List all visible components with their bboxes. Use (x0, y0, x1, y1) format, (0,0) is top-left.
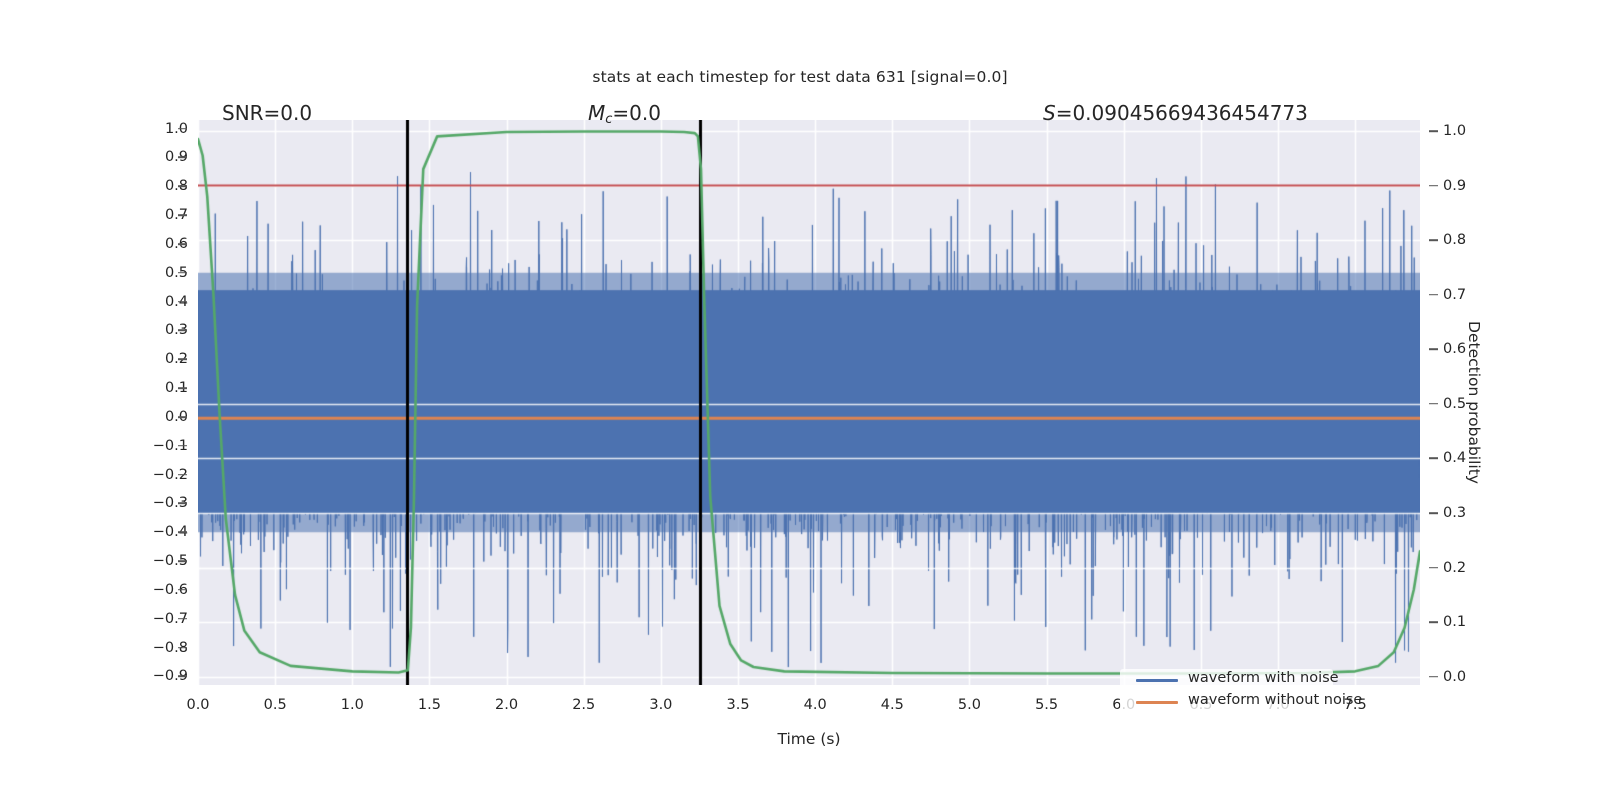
y-axis-right-tick-mark (1429, 403, 1438, 405)
annotation-statistic-symbol: S (1043, 101, 1056, 125)
y-axis-left-tick-mark (178, 416, 187, 418)
y-axis-left-tick-mark (178, 387, 187, 389)
legend-label-clean: waveform without noise (1188, 692, 1362, 708)
x-axis-tick-label: 2.5 (572, 697, 595, 713)
y-axis-left-tick-mark (178, 503, 187, 505)
y-axis-right-tick-label: 1.0 (1443, 123, 1466, 139)
x-axis-tick-label: 5.0 (958, 697, 981, 713)
y-axis-left-tick-mark (178, 445, 187, 447)
y-axis-left-tick-mark (178, 243, 187, 245)
y-axis-right-tick-mark (1429, 130, 1438, 132)
x-axis-tick-label: 3.0 (649, 697, 672, 713)
y-axis-left-tick-mark (178, 272, 187, 274)
y-axis-right-tick-label: 0.5 (1443, 396, 1466, 412)
legend-item-waveform-without-noise: waveform without noise (1120, 691, 1333, 713)
y-axis-right-tick-label: 0.8 (1443, 232, 1466, 248)
y-axis-left-tick-mark (178, 531, 187, 533)
y-axis-left-tick-mark (178, 618, 187, 620)
y-axis-right-tick-mark (1429, 512, 1438, 514)
y-axis-right-tick-mark (1429, 294, 1438, 296)
y-axis-left-tick-mark (178, 186, 187, 188)
x-axis-tick-label: 0.5 (264, 697, 287, 713)
x-axis-tick-label: 4.0 (804, 697, 827, 713)
y-axis-right-tick-label: 0.2 (1443, 560, 1466, 576)
y-axis-right-tick-mark (1429, 348, 1438, 350)
y-axis-right-tick-label: 0.6 (1443, 341, 1466, 357)
annotation-statistic-value: =0.09045669436454773 (1056, 101, 1308, 125)
y-axis-left-tick-mark (178, 128, 187, 130)
y-axis-left-tick-mark (178, 676, 187, 678)
x-axis-tick-label: 2.0 (495, 697, 518, 713)
legend-item-waveform-with-noise: waveform with noise (1120, 669, 1333, 691)
x-axis-label: Time (s) (198, 730, 1420, 748)
y-axis-right-tick-label: 0.4 (1443, 450, 1466, 466)
y-axis-right-tick-label: 0.9 (1443, 178, 1466, 194)
legend-swatch-clean (1136, 701, 1178, 704)
annotation-snr: SNR=0.0 (222, 101, 312, 125)
x-axis-tick-label: 1.5 (418, 697, 441, 713)
plot-axes (198, 120, 1420, 685)
y-axis-left-tick-mark (178, 474, 187, 476)
y-axis-left-tick-mark (178, 358, 187, 360)
x-axis-tick-label: 5.5 (1035, 697, 1058, 713)
legend-swatch-noise (1136, 679, 1178, 682)
y-axis-right-tick-label: 0.0 (1443, 669, 1466, 685)
legend-label-noise: waveform with noise (1188, 670, 1339, 686)
y-axis-right-tick-label: 0.3 (1443, 505, 1466, 521)
annotation-statistic: S=0.09045669436454773 (1043, 101, 1308, 125)
y-axis-right-tick-mark (1429, 676, 1438, 678)
y-axis-left-tick-mark (178, 214, 187, 216)
y-axis-left-tick-mark (178, 301, 187, 303)
y-axis-right-tick-mark (1429, 621, 1438, 623)
y-axis-right-tick-mark (1429, 567, 1438, 569)
y-axis-right-tick-label: 0.1 (1443, 614, 1466, 630)
y-axis-left-tick-mark (178, 560, 187, 562)
annotation-chirp-mass-symbol: M (588, 101, 605, 125)
y-axis-left-tick-mark (178, 330, 187, 332)
annotation-chirp-mass: Mc=0.0 (588, 101, 661, 127)
annotation-chirp-mass-value: =0.0 (612, 101, 661, 125)
y-axis-right-tick-label: 0.7 (1443, 287, 1466, 303)
x-axis-tick-label: 0.0 (186, 697, 209, 713)
x-axis-tick-label: 1.0 (341, 697, 364, 713)
figure-canvas: stats at each timestep for test data 631… (0, 0, 1600, 800)
plot-drawing-surface (198, 120, 1420, 685)
y-axis-left-tick-mark (178, 647, 187, 649)
x-axis-tick-label: 3.5 (726, 697, 749, 713)
y-axis-right-label: Detection probability (1465, 120, 1483, 685)
y-axis-right-tick-mark (1429, 458, 1438, 460)
y-axis-right-tick-mark (1429, 239, 1438, 241)
chart-legend: waveform with noise waveform without noi… (1120, 669, 1333, 714)
chart-title: stats at each timestep for test data 631… (0, 68, 1600, 86)
y-axis-left-tick-mark (178, 589, 187, 591)
y-axis-right-tick-mark (1429, 185, 1438, 187)
x-axis-tick-label: 4.5 (881, 697, 904, 713)
y-axis-left-tick-mark (178, 157, 187, 159)
